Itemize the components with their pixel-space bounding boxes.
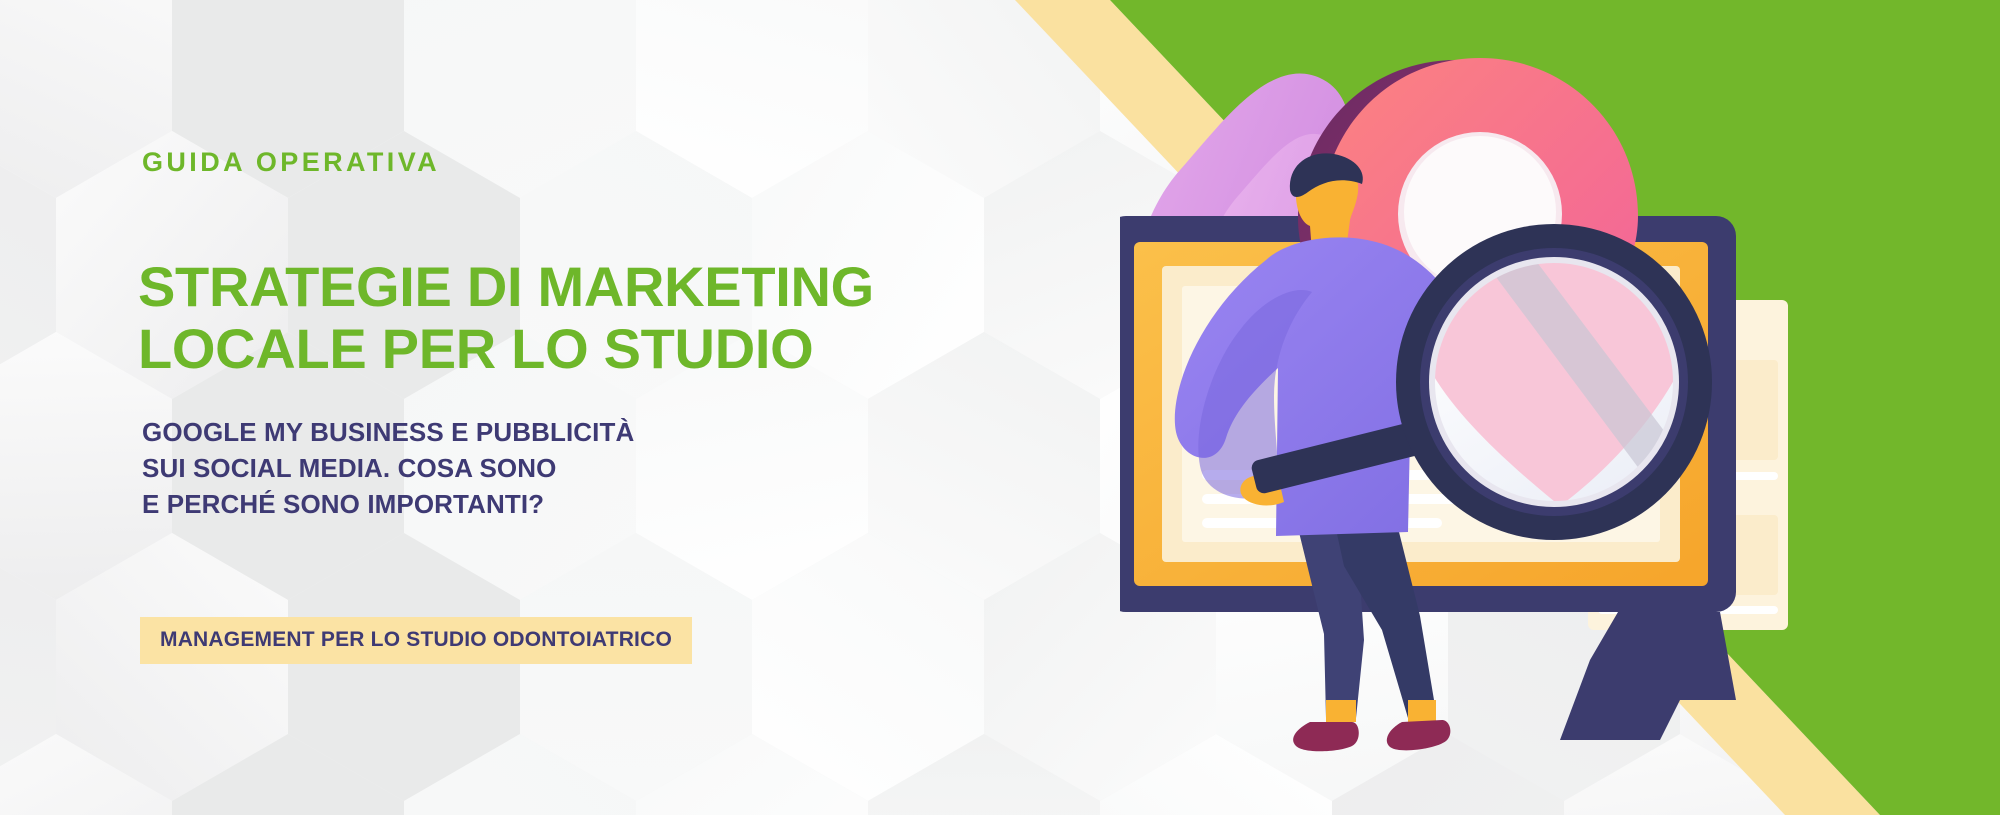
eyebrow-label: GUIDA OPERATIVA [142,147,440,178]
text-column: GUIDA OPERATIVA STRATEGIE DI MARKETING L… [142,0,942,815]
title-line-1: STRATEGIE DI MARKETING [138,256,874,318]
subtitle-line-2: SUI SOCIAL MEDIA. COSA SONO [142,450,634,486]
title-line-2: LOCALE PER LO STUDIO [138,318,874,380]
category-badge: MANAGEMENT PER LO STUDIO ODONTOIATRICO [140,617,692,664]
subtitle-line-3: E PERCHÉ SONO IMPORTANTI? [142,486,634,522]
marketing-banner: GUIDA OPERATIVA STRATEGIE DI MARKETING L… [0,0,2000,815]
hero-illustration [1120,0,2000,815]
page-title: STRATEGIE DI MARKETING LOCALE PER LO STU… [138,256,874,380]
subtitle-line-1: GOOGLE MY BUSINESS E PUBBLICITÀ [142,414,634,450]
page-subtitle: GOOGLE MY BUSINESS E PUBBLICITÀ SUI SOCI… [142,414,634,522]
